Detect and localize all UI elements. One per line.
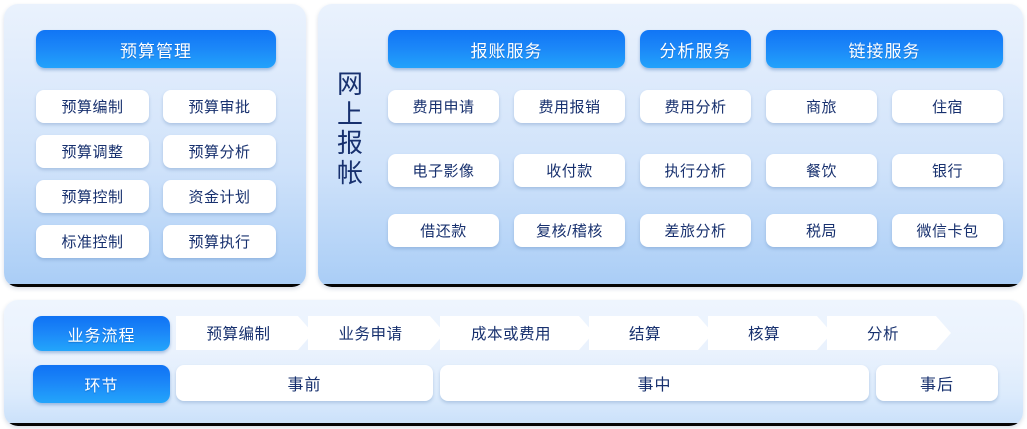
flow-step-2[interactable]: 成本或费用 <box>440 316 594 350</box>
link-item-4[interactable]: 税局 <box>766 214 877 247</box>
reimbursement-item-3[interactable]: 收付款 <box>514 154 625 187</box>
budget-panel-header: 预算管理 <box>36 30 276 68</box>
analysis-item-0[interactable]: 费用分析 <box>640 90 751 123</box>
flow-stage-1[interactable]: 事中 <box>440 365 869 401</box>
reimbursement-item-5[interactable]: 复核/稽核 <box>514 214 625 247</box>
reimbursement-item-1[interactable]: 费用报销 <box>514 90 625 123</box>
reimbursement-item-2[interactable]: 电子影像 <box>388 154 499 187</box>
vertical-label-char-0: 网 <box>330 70 370 100</box>
budget-item-6[interactable]: 标准控制 <box>36 225 149 258</box>
flow-row2-tag: 环节 <box>33 365 170 403</box>
link-item-1[interactable]: 住宿 <box>892 90 1003 123</box>
flow-stage-0[interactable]: 事前 <box>176 365 433 401</box>
flow-step-0[interactable]: 预算编制 <box>176 316 313 350</box>
flow-step-4[interactable]: 核算 <box>708 316 832 350</box>
online-reimbursement-panel: 报账服务 费用申请 费用报销 电子影像 收付款 借还款 复核/稽核 分析服务 费… <box>318 4 1023 287</box>
budget-item-0[interactable]: 预算编制 <box>36 90 149 123</box>
budget-item-2[interactable]: 预算调整 <box>36 135 149 168</box>
budget-item-5[interactable]: 资金计划 <box>163 180 276 213</box>
reimbursement-service-header: 报账服务 <box>388 30 625 68</box>
flow-step-5[interactable]: 分析 <box>827 316 951 350</box>
flow-step-1[interactable]: 业务申请 <box>308 316 445 350</box>
flow-stage-2[interactable]: 事后 <box>876 365 998 401</box>
analysis-item-1[interactable]: 执行分析 <box>640 154 751 187</box>
flow-row1-tag: 业务流程 <box>33 316 170 351</box>
link-item-3[interactable]: 银行 <box>892 154 1003 187</box>
budget-item-3[interactable]: 预算分析 <box>163 135 276 168</box>
budget-management-panel: 预算管理 预算编制 预算审批 预算调整 预算分析 预算控制 资金计划 标准控制 … <box>4 4 306 287</box>
link-item-2[interactable]: 餐饮 <box>766 154 877 187</box>
flow-step-3[interactable]: 结算 <box>589 316 713 350</box>
budget-item-7[interactable]: 预算执行 <box>163 225 276 258</box>
link-item-5[interactable]: 微信卡包 <box>892 214 1003 247</box>
reimbursement-item-0[interactable]: 费用申请 <box>388 90 499 123</box>
analysis-item-2[interactable]: 差旅分析 <box>640 214 751 247</box>
vertical-label-char-2: 报 <box>330 129 370 159</box>
budget-item-1[interactable]: 预算审批 <box>163 90 276 123</box>
infographic-root: 预算管理 预算编制 预算审批 预算调整 预算分析 预算控制 资金计划 标准控制 … <box>0 0 1027 429</box>
vertical-label-char-3: 帐 <box>330 159 370 189</box>
vertical-label-char-1: 上 <box>330 100 370 130</box>
online-reimbursement-vertical-label: 网 上 报 帐 <box>330 70 370 189</box>
analysis-service-header: 分析服务 <box>640 30 751 68</box>
link-item-0[interactable]: 商旅 <box>766 90 877 123</box>
link-service-header: 链接服务 <box>766 30 1003 68</box>
reimbursement-item-4[interactable]: 借还款 <box>388 214 499 247</box>
budget-item-4[interactable]: 预算控制 <box>36 180 149 213</box>
business-flow-panel: 业务流程 预算编制 业务申请 成本或费用 结算 核算 分析 环节 事前 事中 事… <box>4 300 1023 426</box>
